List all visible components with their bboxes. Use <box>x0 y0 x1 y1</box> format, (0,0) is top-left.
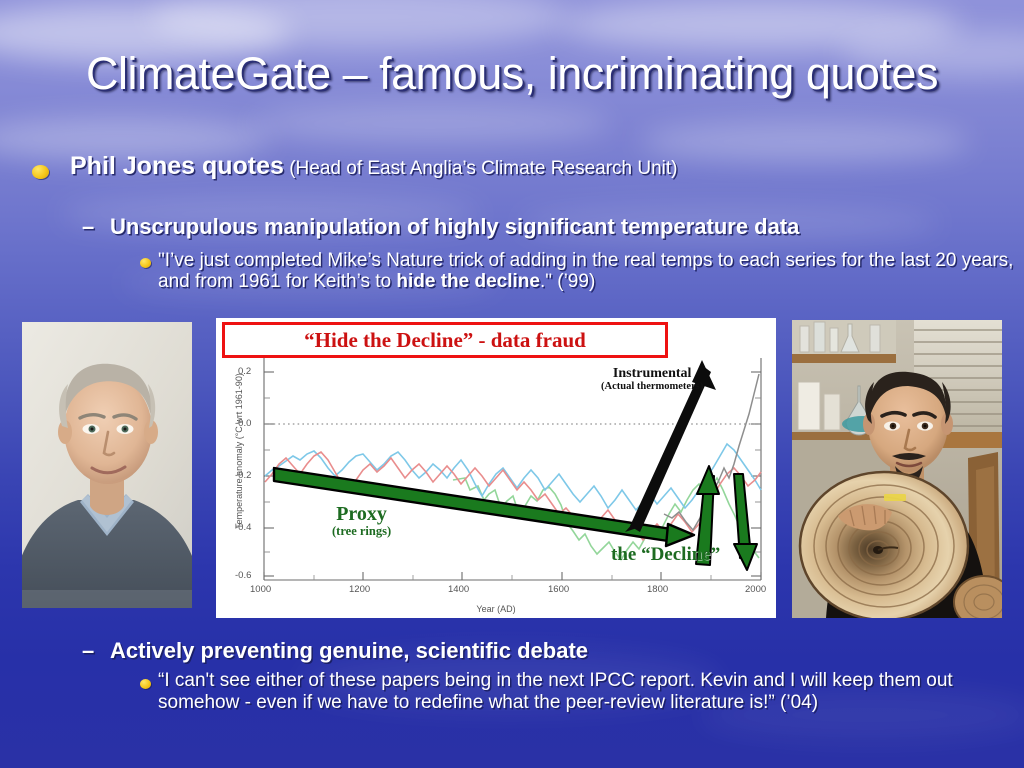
xtick-2000: 2000 <box>745 584 766 595</box>
xtick-1800: 1800 <box>647 584 668 595</box>
cloud-decoration <box>250 105 610 143</box>
level1-heading-text: Phil Jones quotes <box>70 152 284 180</box>
instrumental-annotation-line2: (Actual thermometers) <box>601 381 703 393</box>
phil-jones-portrait <box>22 322 192 608</box>
proxy-annotation: Proxy (tree rings) <box>332 504 391 538</box>
chart-x-axis-label: Year (AD) <box>216 604 776 614</box>
xtick-1400: 1400 <box>448 584 469 595</box>
instrumental-annotation-line1: Instrumental <box>601 366 703 381</box>
cloud-decoration <box>560 0 960 50</box>
chart-title-text: “Hide the Decline” - data fraud <box>304 328 586 353</box>
dash-marker-level2-first: – <box>82 214 94 240</box>
hide-the-decline-chart: 0.2 -0.0 -0.2 -0.4 -0.6 1000 1200 1400 1… <box>216 318 776 618</box>
level1-heading: Phil Jones quotes (Head of East Anglia’s… <box>70 152 678 181</box>
quote-first-bold: hide the decline <box>396 271 540 292</box>
cloud-decoration <box>640 122 970 162</box>
chart-plot-area <box>216 318 776 618</box>
quote-second: “I can't see either of these papers bein… <box>158 670 988 713</box>
dash-marker-level2-second: – <box>82 638 94 664</box>
level2-heading-first: Unscrupulous manipulation of highly sign… <box>110 214 799 240</box>
chart-title-banner: “Hide the Decline” - data fraud <box>222 322 668 358</box>
slide-canvas: ClimateGate – famous, incriminating quot… <box>0 0 1024 768</box>
ytick--0.6: -0.6 <box>235 570 251 581</box>
bullet-marker-quote-second <box>140 679 151 689</box>
quote-first-part2: ." (’99) <box>540 271 595 292</box>
michael-mann-portrait <box>792 320 1002 618</box>
xtick-1600: 1600 <box>548 584 569 595</box>
instrumental-annotation: Instrumental (Actual thermometers) <box>601 366 703 393</box>
level2-heading-second: Actively preventing genuine, scientific … <box>110 638 588 664</box>
chart-y-axis-label: Temperature anomaly (°C wrt 1961-90) <box>234 366 244 536</box>
xtick-1000: 1000 <box>250 584 271 595</box>
level1-subtitle: (Head of East Anglia’s Climate Research … <box>284 158 678 179</box>
proxy-annotation-line2: (tree rings) <box>332 525 391 538</box>
bullet-marker-quote-first <box>140 258 151 268</box>
quote-first: "I’ve just completed Mike’s Nature trick… <box>158 250 1020 293</box>
cloud-decoration <box>150 0 570 48</box>
xtick-1200: 1200 <box>349 584 370 595</box>
bullet-marker-level1 <box>32 165 49 179</box>
slide-title: ClimateGate – famous, incriminating quot… <box>0 48 1024 100</box>
proxy-annotation-line1: Proxy <box>332 504 391 525</box>
decline-annotation: the “Decline” <box>611 544 720 566</box>
